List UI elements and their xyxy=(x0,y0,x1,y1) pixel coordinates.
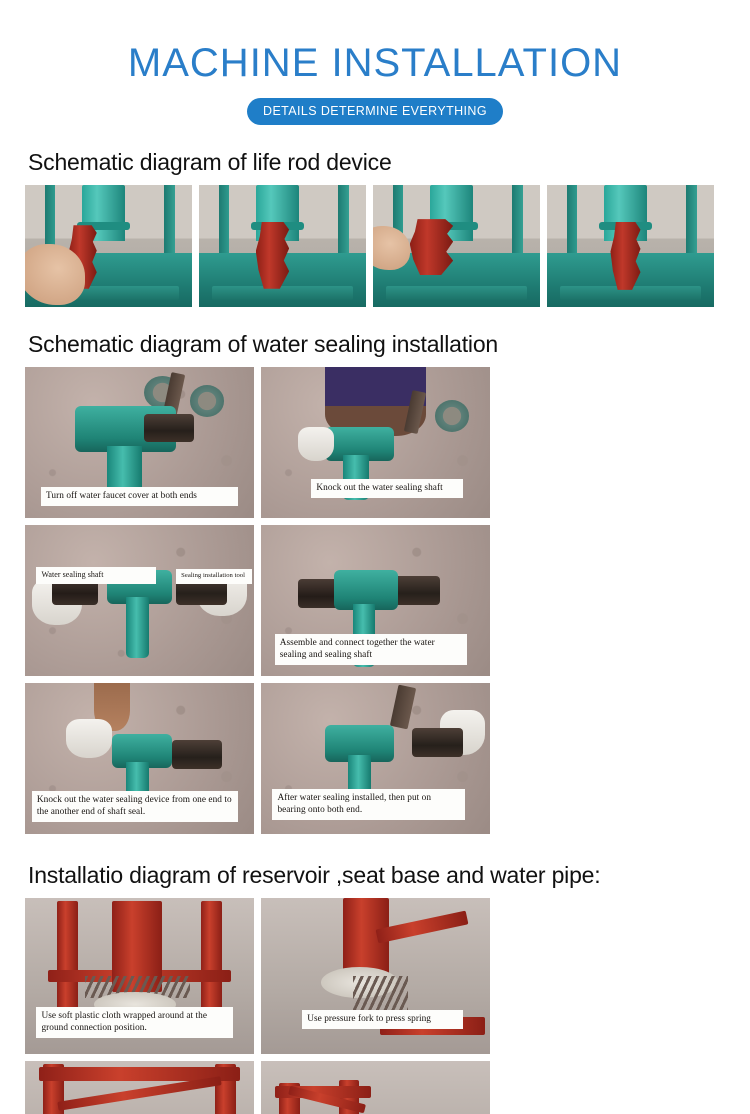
photo-caption: Use pressure fork to press spring xyxy=(302,1010,462,1029)
photo-water-sealing-6: After water sealing installed, then put … xyxy=(261,683,490,834)
photo-grid-life-rod xyxy=(0,185,750,307)
tagline-badge: DETAILS DETERMINE EVERYTHING xyxy=(247,98,503,125)
photo-caption: Turn off water faucet cover at both ends xyxy=(41,487,238,506)
page-title: MACHINE INSTALLATION xyxy=(0,0,750,84)
photo-caption: Assemble and connect together the water … xyxy=(275,634,467,665)
photo-reservoir-2: Use pressure fork to press spring xyxy=(261,898,490,1054)
photo-image xyxy=(199,185,366,307)
badge-row: DETAILS DETERMINE EVERYTHING xyxy=(0,98,750,125)
photo-image xyxy=(25,185,192,307)
photo-image xyxy=(261,898,490,1054)
photo-image xyxy=(25,525,254,676)
photo-life-rod-3 xyxy=(373,185,540,307)
photo-water-sealing-3: Water sealing shaft Sealing installation… xyxy=(25,525,254,676)
photo-caption-secondary: Sealing installation tool xyxy=(176,569,252,585)
installation-guide-page: MACHINE INSTALLATION DETAILS DETERMINE E… xyxy=(0,0,750,1114)
photo-image xyxy=(547,185,714,307)
photo-caption: Use soft plastic cloth wrapped around at… xyxy=(36,1007,233,1038)
photo-life-rod-4 xyxy=(547,185,714,307)
photo-grid-water-sealing: Turn off water faucet cover at both ends… xyxy=(0,367,750,834)
photo-caption: Knock out the water sealing device from … xyxy=(32,791,238,822)
photo-reservoir-1: Use soft plastic cloth wrapped around at… xyxy=(25,898,254,1054)
photo-water-sealing-1: Turn off water faucet cover at both ends xyxy=(25,367,254,518)
photo-caption: Knock out the water sealing shaft xyxy=(311,479,462,498)
photo-image xyxy=(373,185,540,307)
photo-image xyxy=(25,1061,254,1114)
photo-water-sealing-2: Knock out the water sealing shaft xyxy=(261,367,490,518)
photo-caption: Water sealing shaft xyxy=(36,567,155,584)
photo-life-rod-2 xyxy=(199,185,366,307)
section-heading-water-sealing: Schematic diagram of water sealing insta… xyxy=(0,331,750,358)
photo-water-sealing-4: Assemble and connect together the water … xyxy=(261,525,490,676)
photo-grid-reservoir: Use soft plastic cloth wrapped around at… xyxy=(0,898,750,1114)
photo-reservoir-4: Combine water tank and base together xyxy=(261,1061,490,1114)
photo-reservoir-3: After pressing the spring, tie the top o… xyxy=(25,1061,254,1114)
photo-water-sealing-5: Knock out the water sealing device from … xyxy=(25,683,254,834)
photo-life-rod-1 xyxy=(25,185,192,307)
photo-caption: After water sealing installed, then put … xyxy=(272,789,464,820)
section-heading-life-rod: Schematic diagram of life rod device xyxy=(0,149,750,176)
photo-image xyxy=(261,1061,490,1114)
section-heading-reservoir: Installatio diagram of reservoir ,seat b… xyxy=(0,862,750,889)
